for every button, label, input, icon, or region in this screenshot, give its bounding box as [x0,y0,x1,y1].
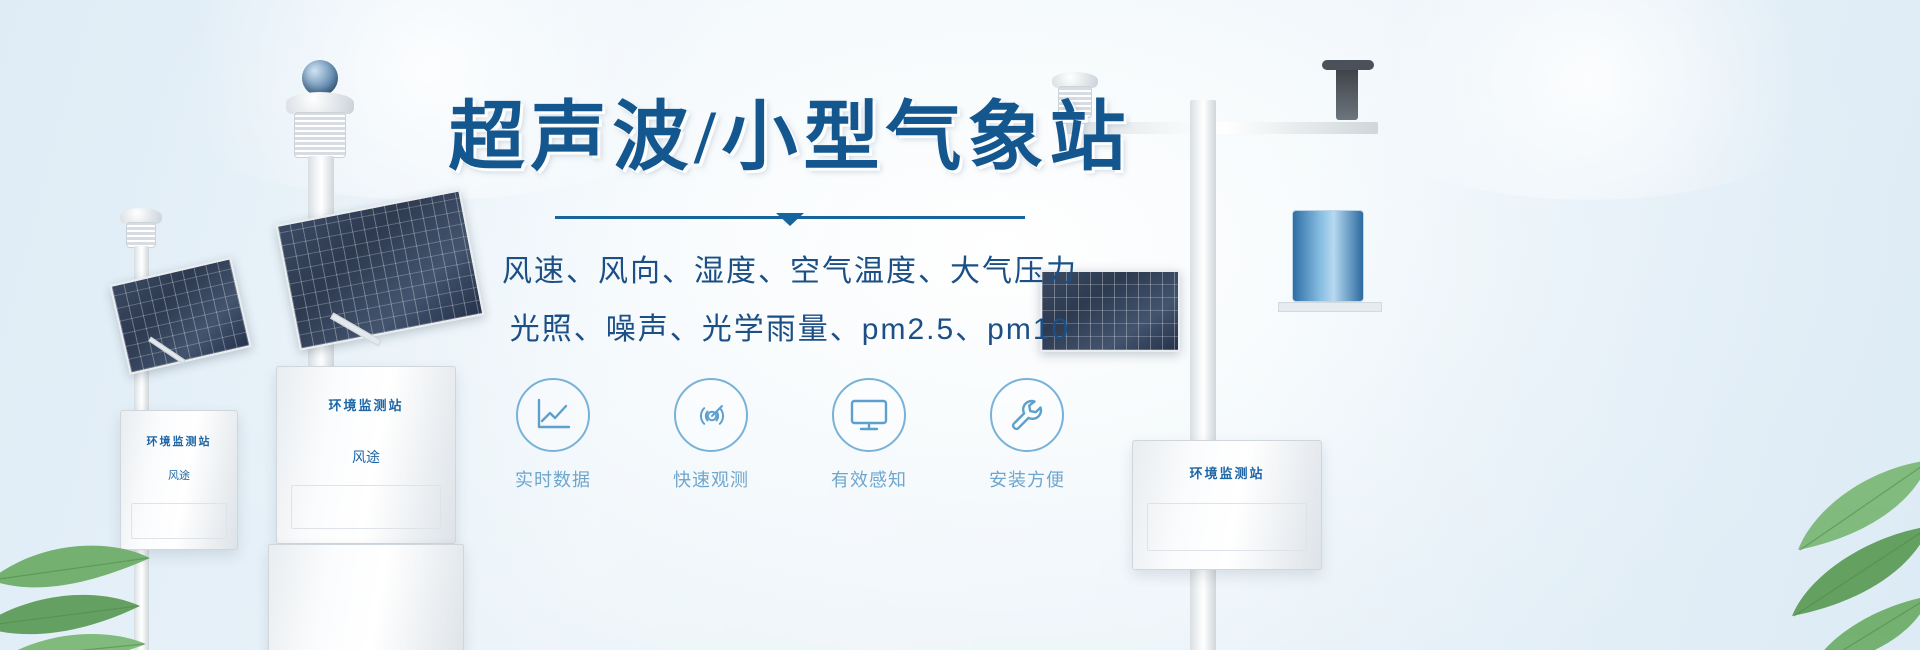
radiation-shield-small [126,222,156,248]
cabinet-right-label: 环境监测站 [1133,463,1321,482]
monitor-icon [832,378,906,452]
product-banner: 环境监测站 风途 环境监测站 风途 环境监测站 [0,0,1920,650]
feature-label-easy-installation: 安装方便 [989,466,1065,492]
anemometer-cups [1322,60,1374,70]
feature-item-easy-installation[interactable]: 安装方便 [972,378,1082,492]
wrench-icon [990,378,1064,452]
anemometer-icon [1336,66,1358,120]
feature-list: 实时数据 快速观测 [440,378,1140,492]
cabinet-right-door-seam [1147,503,1307,551]
sensor-cap-large [286,92,354,114]
cabinet-large-label: 环境监测站 [277,395,455,414]
feature-label-effective-sensing: 有效感知 [831,466,907,492]
leaf-decoration-right [1600,390,1920,650]
subtitle-line-2: 光照、噪声、光学雨量、pm2.5、pm10 [440,304,1140,348]
cabinet-large-brand: 风途 [277,447,455,467]
cabinet-large-base [268,544,464,650]
divider [440,210,1140,224]
feature-label-fast-observation: 快速观测 [673,466,749,492]
line-chart-icon [516,378,590,452]
radar-signal-icon [674,378,748,452]
cabinet-right: 环境监测站 [1132,440,1322,570]
sensor-dome-large [302,60,338,96]
feature-label-realtime-data: 实时数据 [515,466,591,492]
feature-item-fast-observation[interactable]: 快速观测 [656,378,766,492]
page-title: 超声波/小型气象站 [440,100,1140,176]
radiation-shield-large [294,112,346,158]
rain-gauge-shelf [1278,302,1382,312]
cabinet-large: 环境监测站 风途 [276,366,456,544]
subtitle-line-1: 风速、风向、湿度、空气温度、大气压力 [440,246,1140,290]
chevron-down-icon [776,213,804,226]
feature-item-effective-sensing[interactable]: 有效感知 [814,378,924,492]
banner-content: 超声波/小型气象站 风速、风向、湿度、空气温度、大气压力 光照、噪声、光学雨量、… [440,100,1140,492]
rain-gauge [1292,210,1364,302]
cabinet-large-door-seam [291,485,441,529]
feature-item-realtime-data[interactable]: 实时数据 [498,378,608,492]
leaf-decoration-left [0,430,280,650]
